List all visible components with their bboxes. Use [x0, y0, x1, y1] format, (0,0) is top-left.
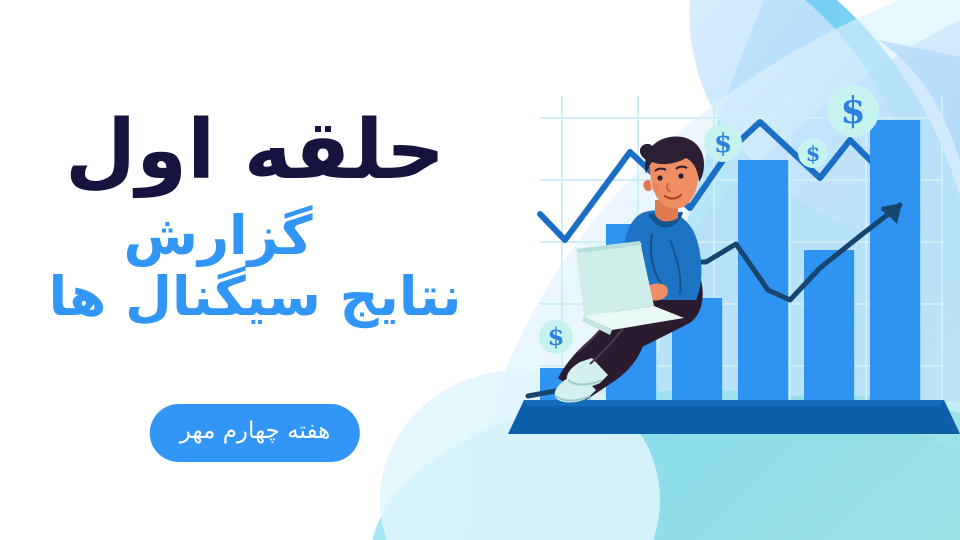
- bar-5: [804, 250, 854, 400]
- page-title: حلقه اول: [0, 107, 510, 196]
- promo-banner: $ $ $ $: [0, 0, 960, 540]
- dollar-coin-small-right: $: [798, 138, 828, 168]
- date-badge[interactable]: هفته چهارم مهر: [150, 404, 360, 462]
- dollar-coin-mid: $: [704, 124, 742, 162]
- person-eye-left: [657, 175, 662, 180]
- person-cheek: [652, 184, 660, 192]
- subtitle: گزارش نتایج سیگنال ها: [0, 205, 510, 327]
- person-eye-right: [678, 173, 683, 178]
- svg-text:$: $: [806, 141, 821, 166]
- svg-text:$: $: [840, 90, 865, 132]
- laptop-screen: [576, 241, 654, 316]
- chart-base-top: [524, 400, 944, 406]
- dollar-coin-large: $: [827, 85, 879, 137]
- bar-6: [870, 120, 920, 400]
- svg-text:$: $: [714, 129, 732, 159]
- svg-text:$: $: [548, 322, 565, 351]
- subtitle-line-1: گزارش: [0, 205, 510, 266]
- subtitle-line-2: نتایج سیگنال ها: [0, 266, 510, 327]
- dollar-coin-small-left: $: [539, 320, 573, 354]
